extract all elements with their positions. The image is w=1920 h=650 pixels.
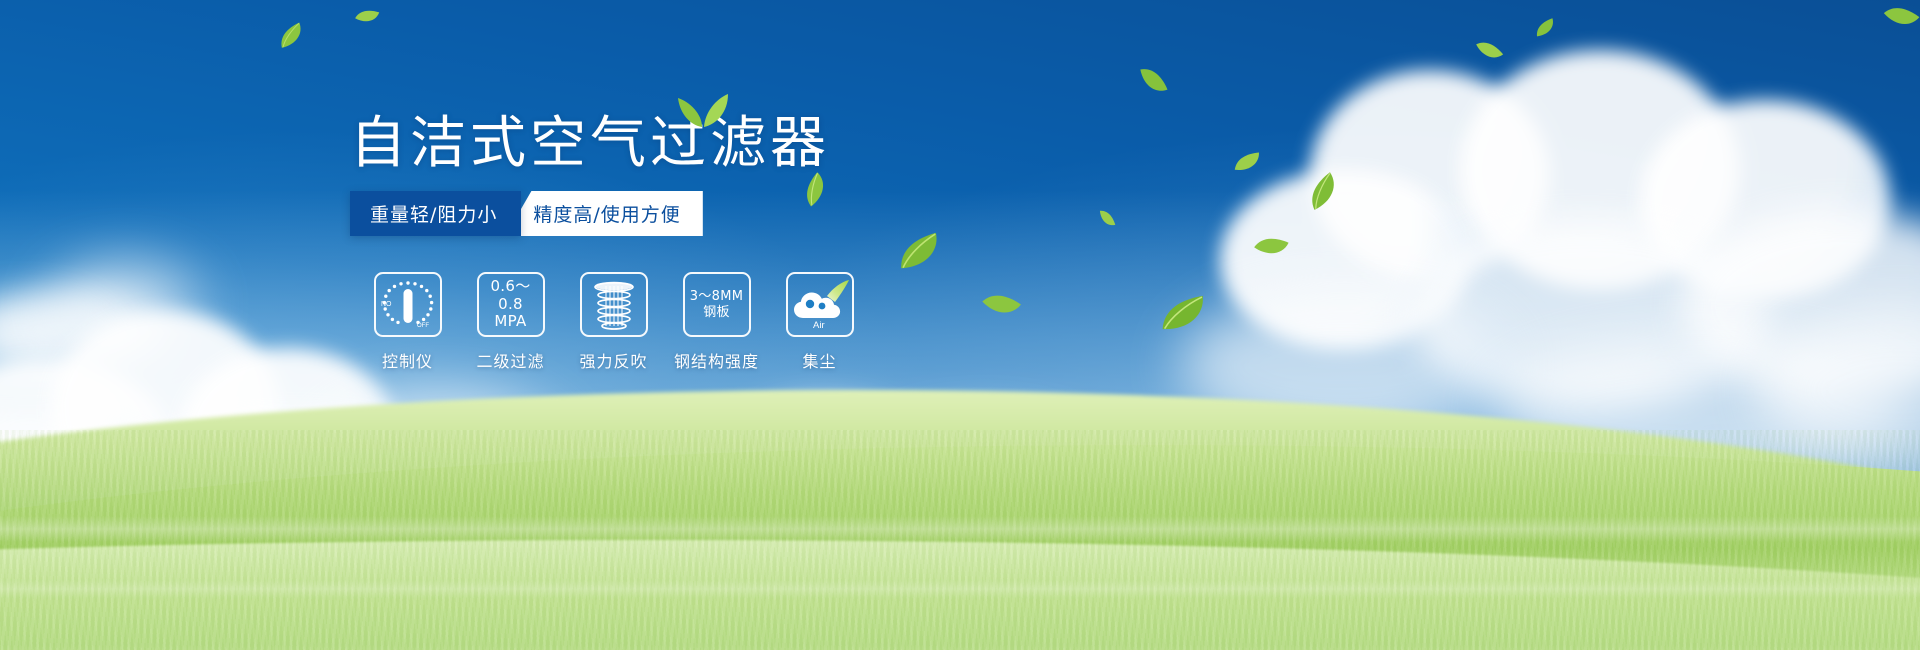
feature-label: 强力反吹: [579, 348, 647, 372]
feature-tabs: 重量轻/阻力小 精度高/使用方便: [350, 191, 703, 236]
feature-item-two-stage-filter[interactable]: 0.6～0.8 MPA 二级过滤: [459, 272, 562, 372]
title-leaf-icon: [676, 81, 730, 140]
filter-cartridge-icon: [591, 280, 637, 330]
tab-precision-easyuse[interactable]: 精度高/使用方便: [505, 191, 702, 236]
air-cloud-icon: Air: [789, 278, 851, 332]
dial-on-label: NO: [381, 301, 392, 308]
product-banner: 自洁式空气过滤器 重量轻/阻力小 精度高/使用方便: [0, 0, 1920, 650]
tab-lightweight-lowresistance[interactable]: 重量轻/阻力小: [350, 191, 521, 236]
feature-label: 集尘: [802, 348, 836, 372]
feature-label: 二级过滤: [476, 348, 544, 372]
page-title-text: 自洁式空气过滤器: [350, 111, 830, 176]
pressure-text-icon: 0.6～0.8 MPA: [479, 278, 543, 331]
feature-label: 控制仪: [382, 348, 433, 372]
feature-item-strong-backblow[interactable]: 强力反吹: [562, 272, 665, 372]
feature-item-controller[interactable]: NO OFF 控制仪: [356, 272, 459, 372]
dial-knob-icon: NO OFF: [379, 278, 437, 332]
banner-content: 自洁式空气过滤器 重量轻/阻力小 精度高/使用方便: [0, 0, 1920, 650]
feature-label: 钢结构强度: [674, 348, 759, 372]
feature-item-dust-collection[interactable]: Air 集尘: [768, 272, 871, 372]
page-title: 自洁式空气过滤器: [350, 115, 830, 174]
steel-plate-text-icon: 3～8MM 钢板: [690, 289, 743, 320]
feature-list: NO OFF 控制仪 0.6～0.8 MPA 二级过滤: [356, 272, 871, 372]
feature-icon-box: 0.6～0.8 MPA: [477, 272, 545, 337]
feature-icon-box: [580, 272, 648, 337]
feature-icon-box: 3～8MM 钢板: [683, 272, 751, 337]
feature-item-steel-strength[interactable]: 3～8MM 钢板 钢结构强度: [665, 272, 768, 372]
feature-icon-box: NO OFF: [374, 272, 442, 337]
feature-icon-box: Air: [786, 272, 854, 337]
tab-label: 重量轻/阻力小: [370, 200, 497, 227]
dial-off-label: OFF: [417, 323, 429, 329]
tab-label: 精度高/使用方便: [533, 200, 680, 227]
air-label: Air: [813, 320, 825, 331]
